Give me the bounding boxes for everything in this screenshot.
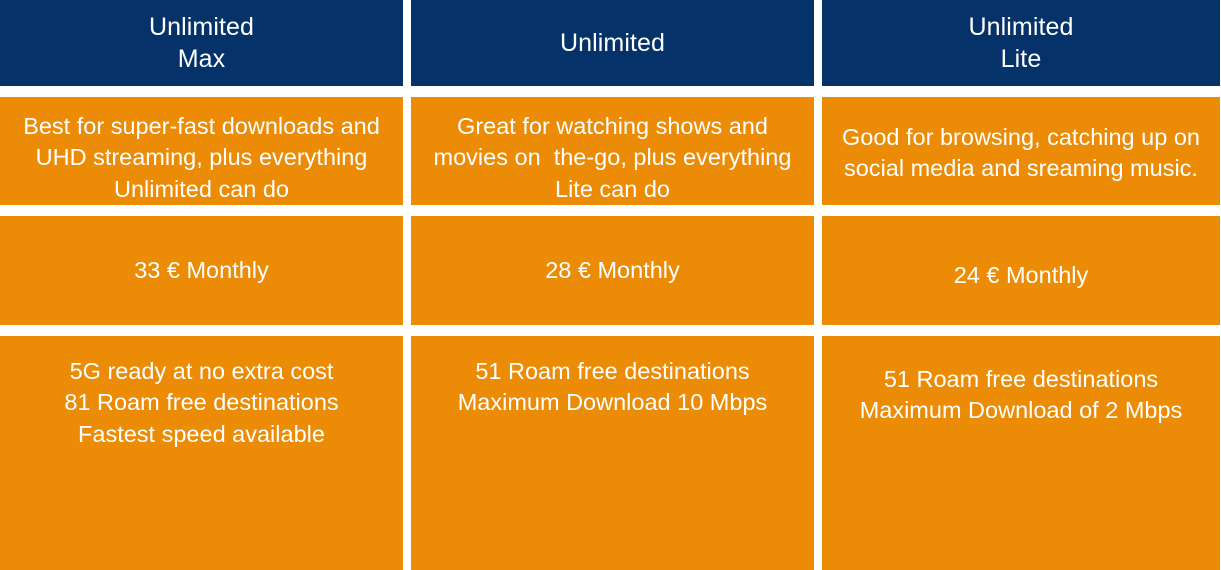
plan-header-line-1: Unlimited (149, 11, 254, 43)
plan-description-text: Good for browsing, catching up on social… (842, 122, 1200, 185)
plan-features-unlimited-max: 5G ready at no extra cost 81 Roam free d… (0, 336, 403, 570)
plan-header-text: Unlimited (560, 27, 665, 59)
plan-header-text: Unlimited Max (149, 11, 254, 75)
plan-description-text: Best for super-fast downloads and UHD st… (23, 111, 380, 205)
plan-header-line-2: Max (149, 43, 254, 75)
plan-comparison-table: Unlimited Max Unlimited Unlimited Lite B… (0, 0, 1221, 537)
plan-header-text: Unlimited Lite (968, 11, 1073, 75)
plan-description-unlimited-max: Best for super-fast downloads and UHD st… (0, 97, 403, 205)
plan-description-unlimited-lite: Good for browsing, catching up on social… (822, 97, 1220, 205)
plan-description-line-2: UHD streaming, plus everything (23, 142, 380, 173)
plan-header-unlimited-max: Unlimited Max (0, 0, 403, 86)
plan-feature-item: Maximum Download 10 Mbps (458, 387, 768, 418)
plan-features-list: 5G ready at no extra cost 81 Roam free d… (64, 356, 338, 450)
plan-price-text: 28 € Monthly (545, 255, 680, 286)
plan-price-text: 33 € Monthly (134, 255, 269, 286)
plan-header-unlimited: Unlimited (411, 0, 814, 86)
plan-feature-item: 5G ready at no extra cost (64, 356, 338, 387)
plan-description-line-1: Best for super-fast downloads and (23, 111, 380, 142)
plan-description-line-3: Unlimited can do (23, 174, 380, 205)
plan-header-line-1: Unlimited (968, 11, 1073, 43)
plan-feature-item: Fastest speed available (64, 419, 338, 450)
plan-price-unlimited-lite: 24 € Monthly (822, 216, 1220, 325)
plan-description-line-1: Good for browsing, catching up on (842, 122, 1200, 153)
plan-header-line-1: Unlimited (560, 27, 665, 59)
plan-header-unlimited-lite: Unlimited Lite (822, 0, 1220, 86)
plan-description-line-2: social media and sreaming music. (842, 153, 1200, 184)
plan-header-line-2: Lite (968, 43, 1073, 75)
plan-feature-item: 51 Roam free destinations (458, 356, 768, 387)
plan-feature-item: 51 Roam free destinations (860, 364, 1183, 395)
plan-features-unlimited-lite: 51 Roam free destinations Maximum Downlo… (822, 336, 1220, 570)
plan-feature-item: 81 Roam free destinations (64, 387, 338, 418)
plan-description-unlimited: Great for watching shows and movies on t… (411, 97, 814, 205)
plan-description-line-1: Great for watching shows and (434, 111, 792, 142)
plan-feature-item: Maximum Download of 2 Mbps (860, 395, 1183, 426)
plan-description-text: Great for watching shows and movies on t… (434, 111, 792, 205)
plan-features-list: 51 Roam free destinations Maximum Downlo… (860, 364, 1183, 427)
plan-price-unlimited: 28 € Monthly (411, 216, 814, 325)
plan-features-unlimited: 51 Roam free destinations Maximum Downlo… (411, 336, 814, 570)
plan-description-line-3: Lite can do (434, 174, 792, 205)
plan-price-text: 24 € Monthly (954, 260, 1089, 291)
plan-description-line-2: movies on the-go, plus everything (434, 142, 792, 173)
plan-features-list: 51 Roam free destinations Maximum Downlo… (458, 356, 768, 419)
plan-price-unlimited-max: 33 € Monthly (0, 216, 403, 325)
